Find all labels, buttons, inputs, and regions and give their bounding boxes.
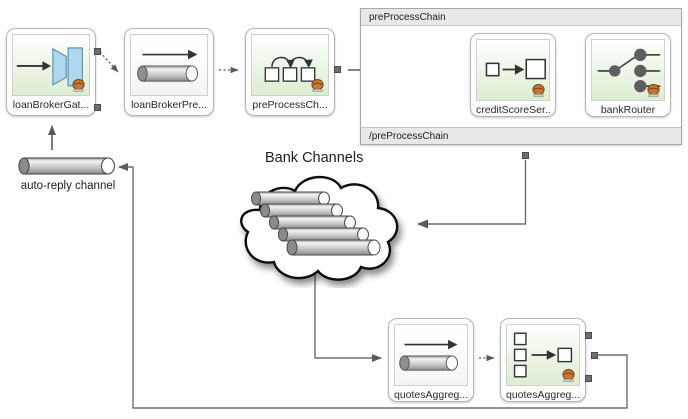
java-bean-badge-icon	[71, 78, 86, 93]
java-bean-badge-icon	[646, 83, 661, 98]
chain-sequence-icon	[251, 34, 329, 96]
edge-group-to-cloud	[418, 160, 526, 224]
container-header-label: preProcessChain	[361, 9, 681, 26]
anchor-aggregator-out-bottom[interactable]	[585, 375, 592, 382]
node-label: quotesAggreg...	[506, 389, 580, 402]
recipient-list-router-icon	[591, 39, 665, 101]
anchor-chainnode-out[interactable]	[334, 66, 341, 73]
diagram-canvas: preProcessChain /preProcessChain loanBro…	[0, 0, 688, 419]
bank-channels-cloud[interactable]	[208, 166, 423, 288]
node-preprocess-chain[interactable]: preProcessCh...	[245, 28, 335, 116]
java-bean-badge-icon	[561, 368, 576, 383]
transform-box-arrow-icon	[476, 39, 550, 101]
node-label: preProcessCh...	[251, 99, 329, 112]
node-bank-router[interactable]: bankRouter	[585, 33, 671, 117]
cloud-title: Bank Channels	[265, 150, 363, 166]
anchor-gateway-out-bottom[interactable]	[94, 104, 101, 111]
node-quotes-aggregator[interactable]: quotesAggreg...	[500, 318, 586, 402]
node-quotes-aggregator-channel[interactable]: quotesAggreg...	[388, 318, 474, 402]
anchor-aggregator-out-mid[interactable]	[591, 352, 598, 359]
node-loan-broker-pre[interactable]: loanBrokerPre...	[124, 28, 214, 116]
gateway-funnel-icon	[12, 34, 90, 96]
anchor-gateway-out-top[interactable]	[94, 48, 101, 55]
node-loan-broker-gateway[interactable]: loanBrokerGat...	[6, 28, 96, 116]
container-footer-label: /preProcessChain	[361, 127, 681, 144]
node-label: loanBrokerPre...	[130, 99, 208, 112]
pipeline-channel-icon	[394, 324, 468, 386]
node-credit-score-service[interactable]: creditScoreSer...	[470, 33, 556, 117]
node-label: loanBrokerGat...	[12, 99, 90, 112]
java-bean-badge-icon	[531, 83, 546, 98]
node-label: quotesAggreg...	[394, 389, 468, 402]
anchor-group-out-to-cloud[interactable]	[522, 152, 529, 159]
auto-reply-channel-caption: auto-reply channel	[8, 180, 128, 192]
edge-gateway-to-pre	[100, 52, 118, 72]
java-bean-badge-icon	[310, 78, 325, 93]
aggregator-icon	[506, 324, 580, 386]
node-label: bankRouter	[591, 104, 665, 117]
node-label: creditScoreSer...	[476, 104, 550, 117]
anchor-aggregator-out-top[interactable]	[585, 332, 592, 339]
pipeline-channel-icon	[130, 34, 208, 96]
